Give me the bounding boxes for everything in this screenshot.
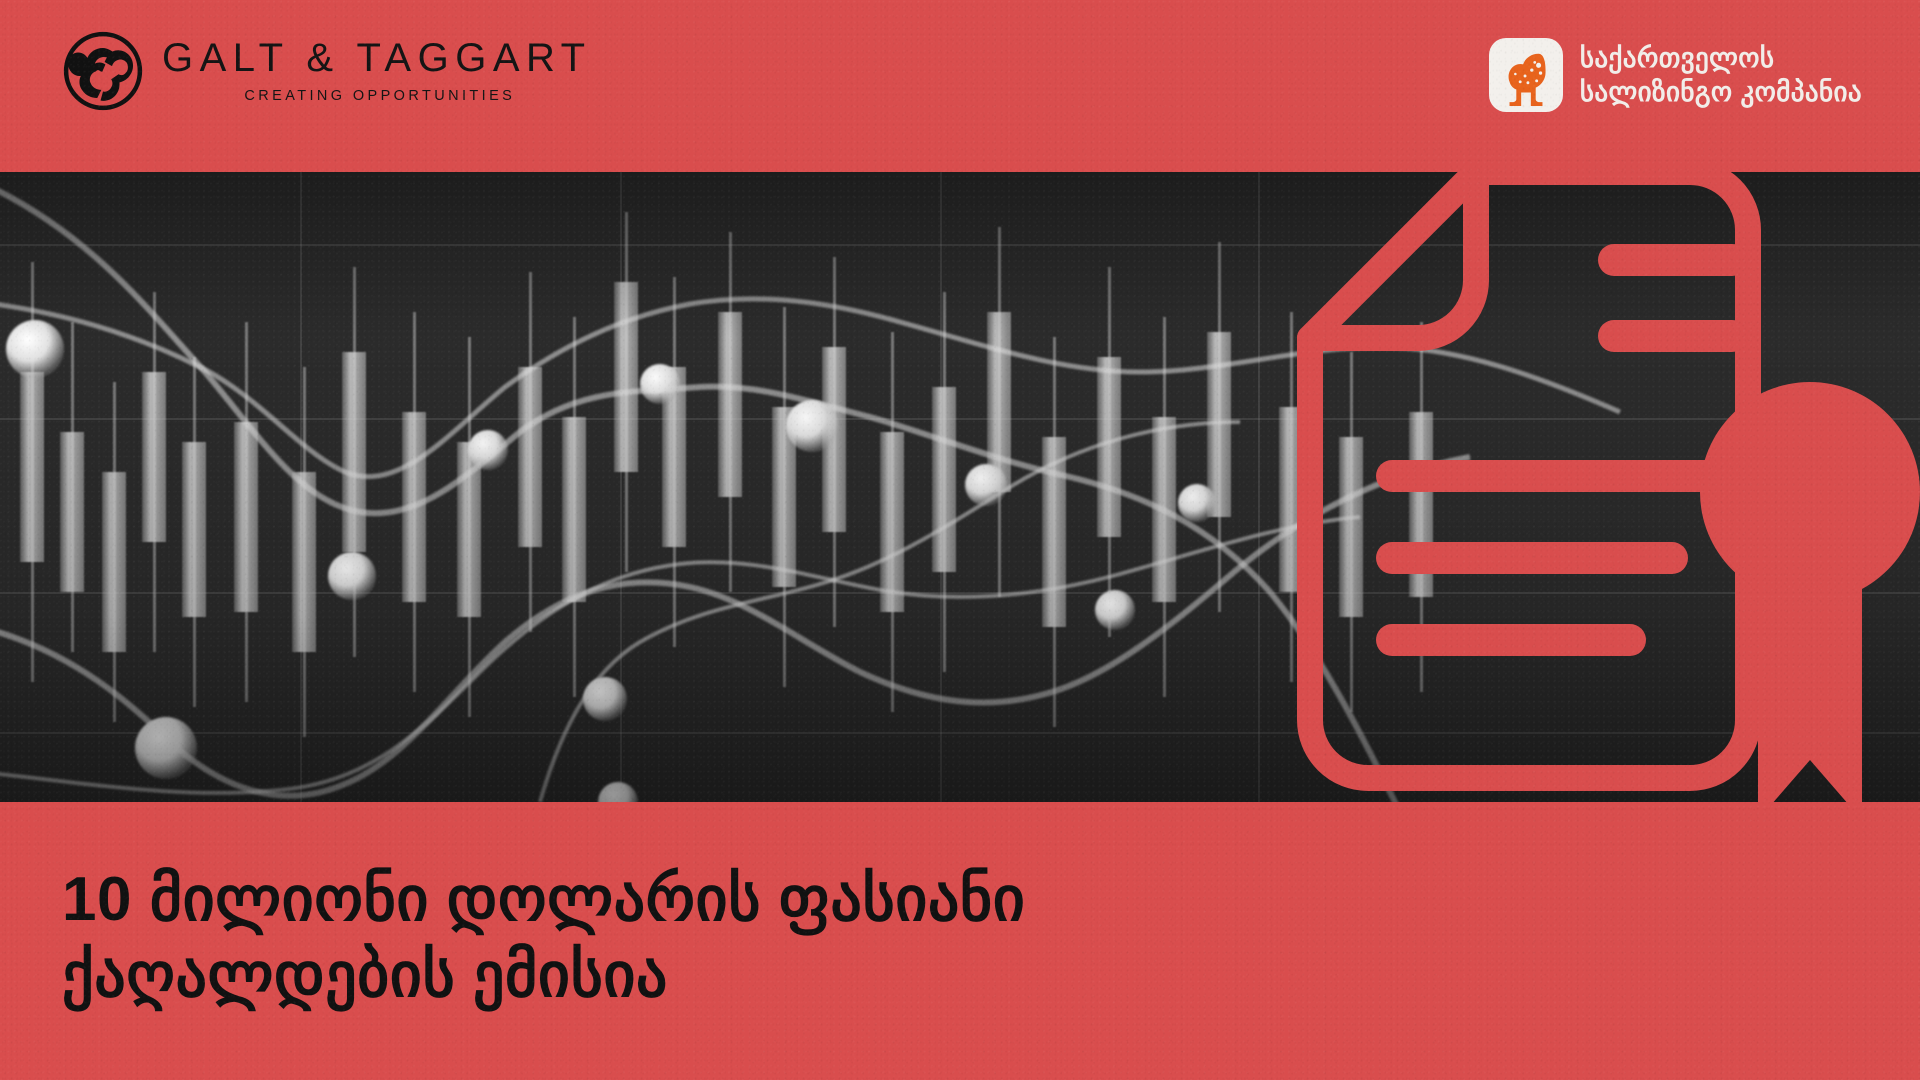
- chart-gridline-h: [0, 244, 1920, 246]
- ram-head-icon: [62, 30, 144, 112]
- galt-taggart-logo[interactable]: GALT & TAGGART CREATING OPPORTUNITIES: [62, 30, 592, 112]
- candle-body: [987, 312, 1011, 492]
- header-bar: GALT & TAGGART CREATING OPPORTUNITIES: [0, 0, 1920, 172]
- chart-marker-dot: [640, 364, 680, 404]
- candle-wick: [1218, 242, 1221, 612]
- candle-wick: [673, 277, 676, 647]
- candle-wick: [783, 307, 786, 687]
- galt-taggart-wordmark: GALT & TAGGART CREATING OPPORTUNITIES: [162, 38, 592, 104]
- candle-wick: [153, 292, 156, 652]
- logo-badge: [1489, 38, 1563, 112]
- candle-wick: [413, 312, 416, 692]
- galt-taggart-name: GALT & TAGGART: [162, 38, 592, 79]
- candle-wick: [1420, 322, 1423, 692]
- candle-wick: [1290, 312, 1293, 682]
- candle-body: [1339, 437, 1363, 617]
- banner-root: GALT & TAGGART CREATING OPPORTUNITIES: [0, 0, 1920, 1080]
- candle-body: [932, 387, 956, 572]
- georgian-leasing-company-logo[interactable]: საქართველოს სალიზინგო კომპანია: [1489, 38, 1862, 112]
- candle-wick: [943, 292, 946, 672]
- chart-marker-dot: [468, 430, 508, 470]
- candle-body: [562, 417, 586, 602]
- candle-wick: [573, 317, 576, 697]
- georgian-leasing-wordmark: საქართველოს სალიზინგო კომპანია: [1580, 43, 1862, 106]
- candle-body: [102, 472, 126, 652]
- candle-wick: [193, 357, 196, 707]
- chart-marker-dot: [135, 717, 197, 779]
- chart-marker-dot: [786, 400, 838, 452]
- page-title: 10 მილიონი დოლარის ფასიანი ქაღალდების ემ…: [62, 862, 1462, 1013]
- candle-body: [142, 372, 166, 542]
- market-chart-photo: [0, 172, 1920, 802]
- chart-marker-dot: [598, 782, 638, 802]
- galt-taggart-tagline: CREATING OPPORTUNITIES: [162, 88, 592, 104]
- partner-logo-line-2: სალიზინგო კომპანია: [1580, 77, 1862, 107]
- candle-wick: [353, 267, 356, 657]
- candle-wick: [1053, 337, 1056, 727]
- candle-body: [1207, 332, 1231, 517]
- candle-wick: [891, 332, 894, 712]
- candle-body: [718, 312, 742, 497]
- chart-marker-dot: [1095, 590, 1135, 630]
- candle-wick: [729, 232, 732, 592]
- candle-wick: [71, 322, 74, 652]
- candle-body: [1279, 407, 1303, 592]
- candle-body: [662, 367, 686, 547]
- partner-logo-line-1: საქართველოს: [1580, 43, 1862, 73]
- chart-gridline-h: [0, 732, 1920, 734]
- candle-body: [292, 472, 316, 652]
- candle-body: [60, 432, 84, 592]
- lion-statue-icon: [1495, 44, 1557, 106]
- candle-body: [822, 347, 846, 532]
- chart-marker-dot: [328, 552, 376, 600]
- chart-marker-dot: [965, 464, 1007, 506]
- candle-body: [1097, 357, 1121, 537]
- candle-wick: [833, 257, 836, 627]
- title-line-1: 10 მილიონი დოლარის ფასიანი: [62, 862, 1462, 938]
- candle-wick: [529, 272, 532, 632]
- candle-body: [1152, 417, 1176, 602]
- candle-body: [880, 432, 904, 612]
- chart-gridline-v: [620, 172, 622, 802]
- candle-body: [182, 442, 206, 617]
- candle-wick: [245, 322, 248, 702]
- candle-wick: [1163, 317, 1166, 697]
- title-line-2: ქაღალდების ემისია: [62, 938, 1462, 1014]
- candle-wick: [625, 212, 628, 572]
- chart-gridline-h: [0, 592, 1920, 594]
- candle-body: [342, 352, 366, 552]
- chart-marker-dot: [6, 320, 64, 378]
- chart-gridline-v: [300, 172, 302, 802]
- chart-marker-dot: [1178, 484, 1216, 522]
- candle-wick: [113, 382, 116, 722]
- candle-wick: [468, 337, 471, 717]
- candle-wick: [303, 367, 306, 737]
- candle-body: [234, 422, 258, 612]
- chart-trend-lines: [0, 172, 1920, 802]
- candle-body: [772, 407, 796, 587]
- candle-body: [20, 372, 44, 562]
- candle-wick: [31, 262, 34, 682]
- candle-wick: [1108, 267, 1111, 637]
- candle-body: [518, 367, 542, 547]
- candle-body: [1042, 437, 1066, 627]
- chart-gridline-v: [940, 172, 942, 802]
- candle-body: [1409, 412, 1433, 597]
- candle-body: [614, 282, 638, 472]
- candle-body: [457, 442, 481, 617]
- candle-body: [402, 412, 426, 602]
- hero-photo-strip: [0, 172, 1920, 802]
- chart-gridline-h: [0, 418, 1920, 420]
- candle-wick: [998, 227, 1001, 597]
- chart-gridline-v: [1258, 172, 1260, 802]
- chart-marker-dot: [583, 677, 627, 721]
- candle-wick: [1350, 352, 1353, 712]
